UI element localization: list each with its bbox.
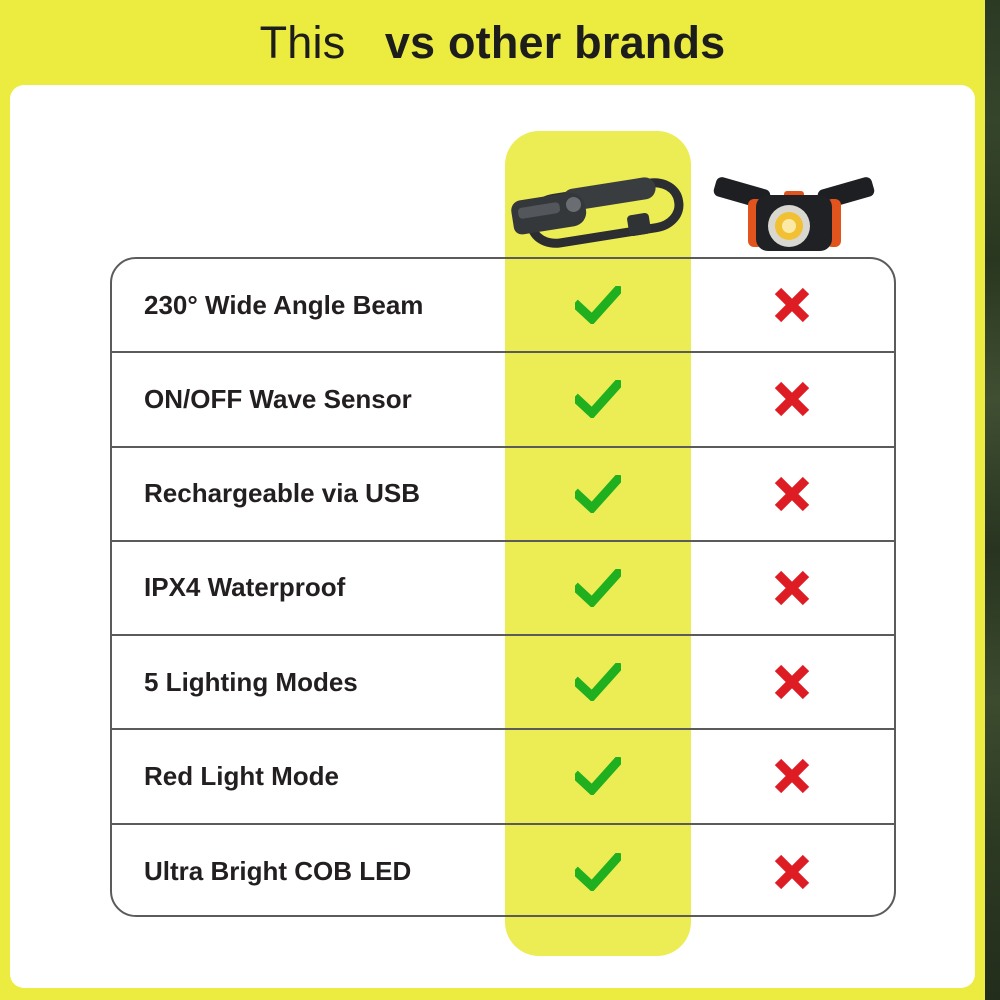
check-icon [575, 286, 621, 324]
table-row: Ultra Bright COB LED [112, 825, 894, 917]
feature-label: 230° Wide Angle Beam [112, 290, 505, 321]
this-product-headlamp-icon [510, 170, 686, 252]
feature-label: Ultra Bright COB LED [112, 856, 505, 887]
mark-cell-theirs [690, 757, 894, 795]
mark-cell-ours [505, 569, 690, 607]
check-icon [575, 853, 621, 891]
mark-cell-theirs [690, 853, 894, 891]
table-row: IPX4 Waterproof [112, 542, 894, 636]
feature-label: Rechargeable via USB [112, 478, 505, 509]
mark-cell-ours [505, 853, 690, 891]
feature-label: Red Light Mode [112, 761, 505, 792]
cross-icon [773, 380, 811, 418]
yellow-frame: This vs other brands [0, 0, 985, 1000]
header-bar: This vs other brands [0, 0, 985, 85]
mark-cell-theirs [690, 286, 894, 324]
mark-cell-ours [505, 663, 690, 701]
mark-cell-ours [505, 475, 690, 513]
feature-label: 5 Lighting Modes [112, 667, 505, 698]
check-icon [575, 475, 621, 513]
mark-cell-ours [505, 757, 690, 795]
title-lead: This [260, 17, 346, 68]
comparison-infographic: This vs other brands [0, 0, 1000, 1000]
table-row: 5 Lighting Modes [112, 636, 894, 730]
mark-cell-theirs [690, 663, 894, 701]
comparison-card: 230° Wide Angle BeamON/OFF Wave SensorRe… [10, 85, 975, 988]
check-icon [575, 380, 621, 418]
check-icon [575, 757, 621, 795]
check-icon [575, 663, 621, 701]
mark-cell-ours [505, 380, 690, 418]
feature-label: ON/OFF Wave Sensor [112, 384, 505, 415]
cross-icon [773, 286, 811, 324]
table-row: 230° Wide Angle Beam [112, 259, 894, 353]
table-row: Rechargeable via USB [112, 448, 894, 542]
other-brand-headlamp-icon [712, 165, 876, 257]
cross-icon [773, 853, 811, 891]
mark-cell-theirs [690, 380, 894, 418]
table-row: Red Light Mode [112, 730, 894, 824]
page-title: This vs other brands [260, 17, 726, 69]
background-photo-edge [984, 0, 1000, 1000]
feature-label: IPX4 Waterproof [112, 572, 505, 603]
table-row: ON/OFF Wave Sensor [112, 353, 894, 447]
feature-comparison-table: 230° Wide Angle BeamON/OFF Wave SensorRe… [110, 257, 896, 917]
cross-icon [773, 569, 811, 607]
cross-icon [773, 475, 811, 513]
check-icon [575, 569, 621, 607]
mark-cell-ours [505, 286, 690, 324]
cross-icon [773, 663, 811, 701]
mark-cell-theirs [690, 475, 894, 513]
cross-icon [773, 757, 811, 795]
mark-cell-theirs [690, 569, 894, 607]
title-rest: vs other brands [385, 17, 726, 68]
